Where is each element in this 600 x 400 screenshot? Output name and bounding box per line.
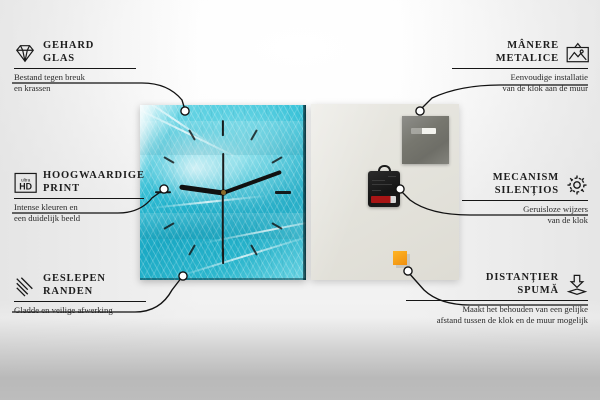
picture-frame-icon (566, 42, 588, 64)
callout-desc: Bestand tegen breuk en krassen (14, 72, 146, 93)
callout-desc-line2: van de klok aan de muur (502, 83, 588, 93)
callout-polished-edges: GESLEPEN RANDEN Gladde en veilige afwerk… (14, 273, 156, 316)
callout-desc-line2: afstand tussen de klok en de muur mogeli… (437, 315, 588, 325)
callout-desc: Eenvoudige installatie van de klok aan d… (452, 72, 588, 93)
callout-desc-line1: Bestand tegen breuk (14, 72, 85, 82)
diamond-icon (14, 42, 36, 64)
ultra-hd-icon: ultra HD (14, 172, 36, 194)
callout-desc-line1: Intense kleuren en (14, 202, 78, 212)
callout-title-line2: GLAS (43, 53, 75, 64)
callout-title-line1: HOOGWAARDIGE (43, 170, 145, 181)
callout-desc: Geruisloze wijzers van de klok (462, 204, 588, 225)
callout-title-line2: SILENȚIOS (495, 185, 559, 196)
polished-edges-icon (14, 275, 36, 297)
callout-desc-line2: en krassen (14, 83, 50, 93)
infographic-stage: GEHARD GLAS Bestand tegen breuk en krass… (0, 0, 600, 400)
callout-rule (462, 200, 588, 201)
callout-rule (452, 68, 588, 69)
callout-foam-spacer: DISTANȚIER SPUMĂ Maakt het behouden van … (406, 272, 588, 325)
callout-high-quality-print: ultra HD HOOGWAARDIGE PRINT Intense kleu… (14, 170, 154, 223)
callout-silent-mechanism: MECANISM SILENȚIOS Geruisloze wijzers va… (462, 172, 588, 225)
gear-icon (566, 174, 588, 196)
callout-title-line1: MÂNERE (507, 40, 559, 51)
callout-title-line1: MECANISM (493, 172, 559, 183)
callout-title-line1: DISTANȚIER (486, 272, 559, 283)
callout-title-line2: PRINT (43, 183, 80, 194)
callout-rule (14, 198, 144, 199)
callout-desc-line1: Geruisloze wijzers (523, 204, 588, 214)
callout-desc: Maakt het behouden van een gelijke afsta… (406, 304, 588, 325)
callout-rule (14, 301, 146, 302)
callout-desc-line1: Gladde en veilige afwerking (14, 305, 113, 315)
callout-rule (406, 300, 588, 301)
callout-desc-line1: Maakt het behouden van een gelijke (462, 304, 588, 314)
callout-desc-line2: van de klok (547, 215, 588, 225)
callout-rule (14, 68, 136, 69)
callout-title-line2: SPUMĂ (517, 285, 559, 296)
ultra-hd-icon-large-label: HD (19, 181, 32, 191)
callout-tempered-glass: GEHARD GLAS Bestand tegen breuk en krass… (14, 40, 146, 93)
callout-desc: Gladde en veilige afwerking (14, 305, 156, 316)
callout-metal-handles: MÂNERE METALICE Eenvoudige installatie v… (452, 40, 588, 93)
callout-title-line1: GEHARD (43, 40, 94, 51)
callout-title-line2: RANDEN (43, 286, 93, 297)
callout-desc: Intense kleuren en een duidelijk beeld (14, 202, 154, 223)
spacer-layers-icon (566, 274, 588, 296)
callout-title-line1: GESLEPEN (43, 273, 106, 284)
callout-title-line2: METALICE (496, 53, 559, 64)
callout-desc-line1: Eenvoudige installatie (511, 72, 588, 82)
callout-desc-line2: een duidelijk beeld (14, 213, 80, 223)
